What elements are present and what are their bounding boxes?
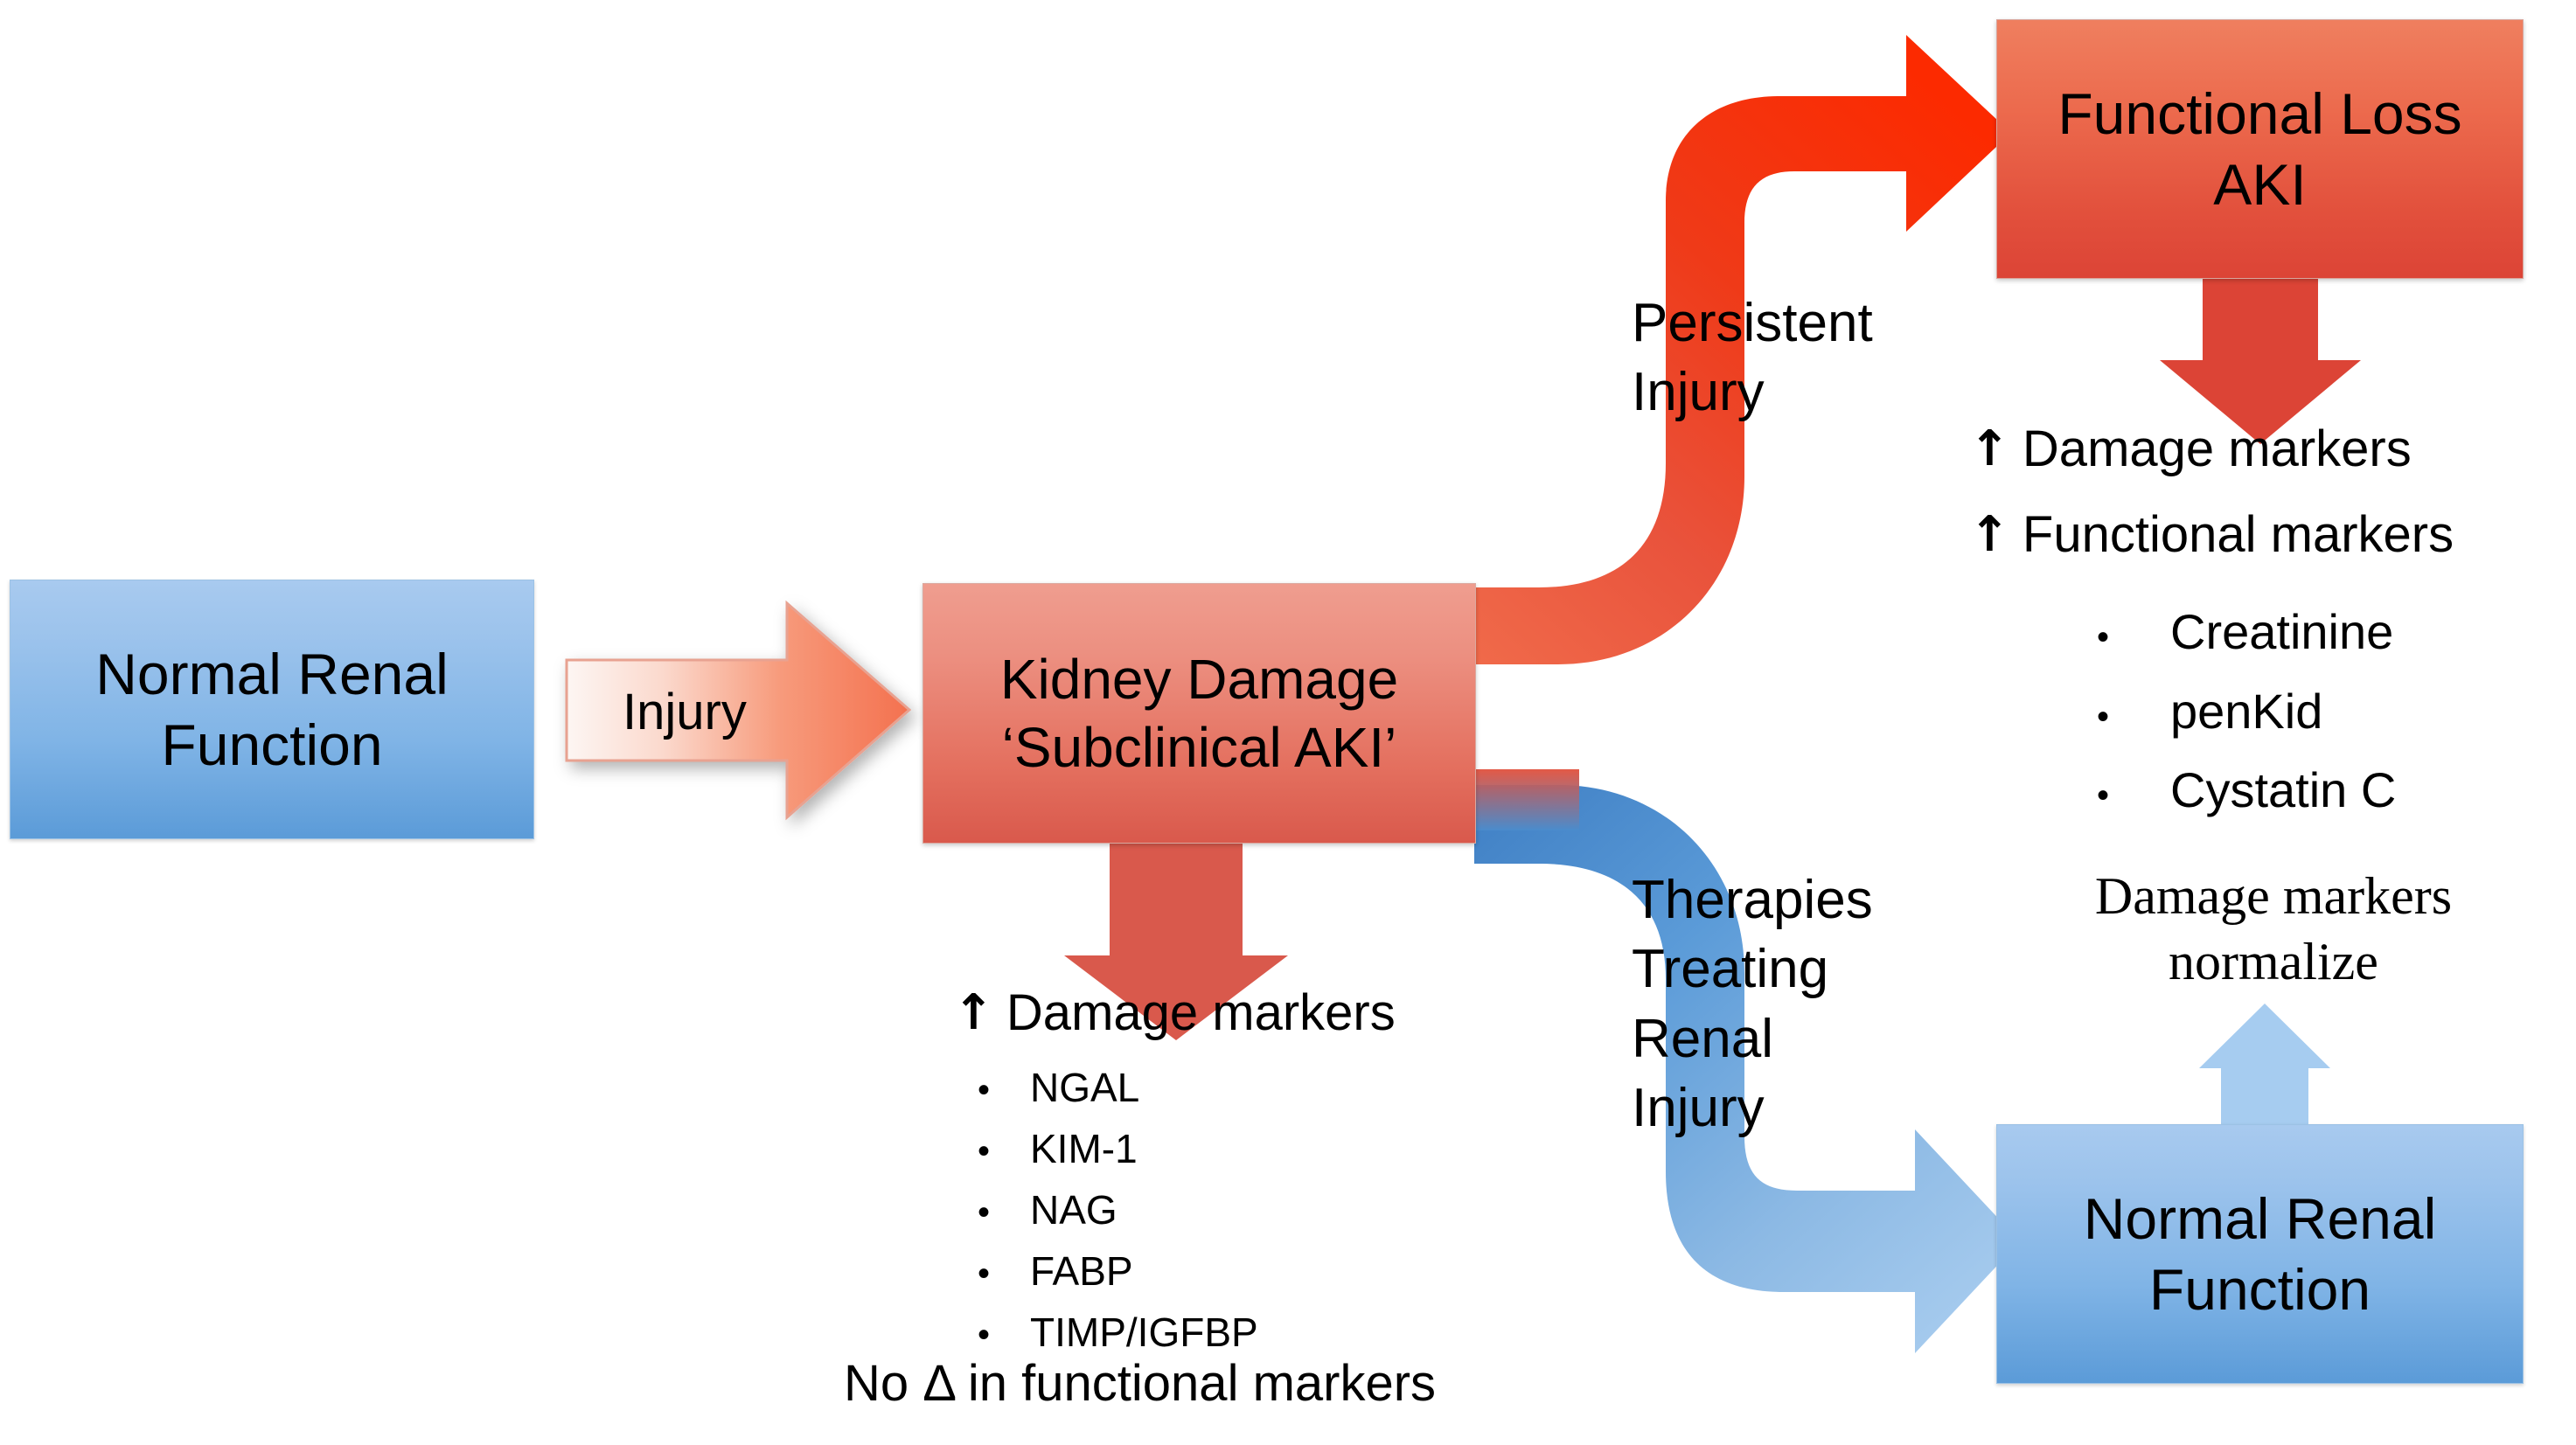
list-item-label: Cystatin C xyxy=(2170,751,2396,830)
node-kidney-damage[interactable]: Kidney Damage ‘Subclinical AKI’ xyxy=(922,583,1476,844)
node-label-line2: AKI xyxy=(2213,149,2306,220)
node-label-line1: Normal Renal xyxy=(95,639,448,710)
bullet-icon: • xyxy=(971,1073,997,1108)
list-item: • penKid xyxy=(2090,672,2396,752)
list-item-label: NAG xyxy=(1030,1180,1117,1241)
list-item: • FABP xyxy=(971,1241,1258,1303)
edge-label-persistent-injury: Persistent Injury xyxy=(1632,288,1873,427)
list-item: • KIM-1 xyxy=(971,1119,1258,1180)
node-functional-loss-aki[interactable]: Functional Loss AKI xyxy=(1996,19,2524,279)
node-normal-renal-function-end[interactable]: Normal Renal Function xyxy=(1996,1124,2524,1384)
bullet-icon: • xyxy=(971,1195,997,1230)
up-arrow-icon: ↑ xyxy=(953,989,994,1038)
node-label-line2: Function xyxy=(161,710,382,781)
list-item: • NAG xyxy=(971,1180,1258,1241)
node-label-line1: Kidney Damage xyxy=(1000,645,1398,713)
heading-text: Damage markers xyxy=(1006,983,1396,1042)
edge-label-injury: Injury xyxy=(623,682,747,743)
bullet-icon: • xyxy=(2090,620,2116,655)
up-arrow-icon: ↑ xyxy=(1969,425,2010,474)
node-normal-renal-function-start[interactable]: Normal Renal Function xyxy=(10,580,534,839)
edge-label-normalize: Damage markers normalize xyxy=(2029,864,2518,995)
list-item-label: FABP xyxy=(1030,1241,1133,1303)
list-item-label: KIM-1 xyxy=(1030,1119,1138,1180)
functional-loss-damage-markers-heading: ↑ Damage markers xyxy=(1969,420,2412,478)
up-arrow-icon: ↑ xyxy=(1969,511,2010,559)
node-label-line2: ‘Subclinical AKI’ xyxy=(1002,713,1397,782)
subclinical-marker-list: • NGAL • KIM-1 • NAG • FABP • TIMP/IGFBP xyxy=(971,1058,1258,1364)
node-label-line1: Functional Loss xyxy=(2057,79,2461,149)
diagram-canvas: Normal Renal Function Kidney Damage ‘Sub… xyxy=(0,0,2576,1445)
bullet-icon: • xyxy=(971,1256,997,1291)
subclinical-footnote: No Δ in functional markers xyxy=(844,1353,1436,1414)
bullet-icon: • xyxy=(2090,699,2116,734)
normalize-up-arrow xyxy=(2199,1004,2330,1136)
list-item-label: penKid xyxy=(2170,672,2322,752)
list-item: • Creatinine xyxy=(2090,593,2396,672)
heading-text: Damage markers xyxy=(2023,420,2412,478)
list-item: • NGAL xyxy=(971,1058,1258,1119)
list-item: • Cystatin C xyxy=(2090,751,2396,830)
node-label-line1: Normal Renal xyxy=(2084,1184,2436,1254)
heading-text: Functional markers xyxy=(2023,505,2454,564)
edge-label-therapies: Therapies Treating Renal Injury xyxy=(1632,865,1873,1143)
node-label-line2: Function xyxy=(2149,1254,2371,1325)
list-item-label: Creatinine xyxy=(2170,593,2393,672)
bullet-icon: • xyxy=(2090,778,2116,813)
list-item-label: NGAL xyxy=(1030,1058,1139,1119)
bullet-icon: • xyxy=(971,1317,997,1352)
functional-loss-marker-list: • Creatinine • penKid • Cystatin C xyxy=(2090,593,2396,830)
bullet-icon: • xyxy=(971,1134,997,1169)
subclinical-damage-markers-heading: ↑ Damage markers xyxy=(953,983,1396,1042)
functional-loss-functional-markers-heading: ↑ Functional markers xyxy=(1969,505,2454,564)
